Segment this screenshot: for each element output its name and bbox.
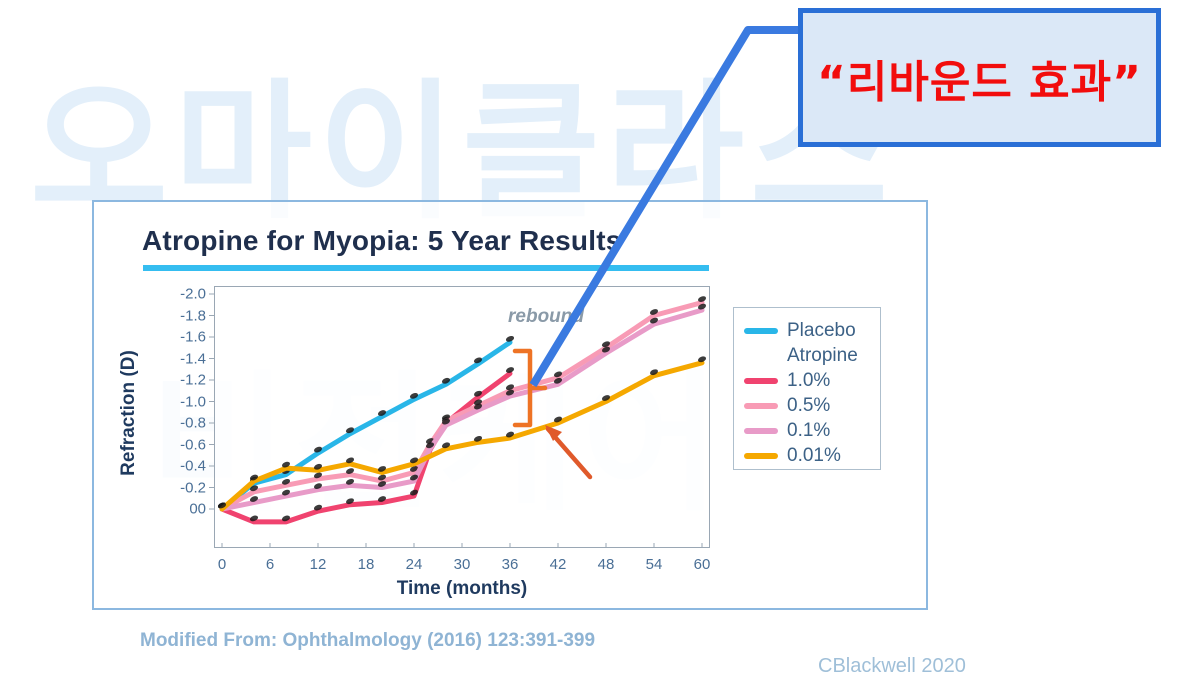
legend-swatch [744,403,778,409]
x-tick-label: 18 [358,556,375,573]
x-tick-label: 24 [406,556,423,573]
x-tick-label: 42 [550,556,567,573]
x-tick-label: 30 [454,556,471,573]
legend-item: 0.01% [744,443,880,468]
rebound-callout-box: “리바운드 효과” [798,8,1161,147]
rebound-annotation-label: rebound [508,306,584,328]
page-title: Atropine for Myopia: 5 Year Results [142,225,622,257]
y-tick-label: -0.6 [180,436,206,453]
legend-label-placebo: Placebo [787,320,856,342]
legend-item: 0.5% [744,393,880,418]
legend-label: 1.0% [787,370,830,392]
slide-canvas: 오마이클라스 비전케어 Atropine for Myopia: 5 Year … [0,0,1181,689]
x-tick-label: 6 [266,556,274,573]
legend-swatch-placebo [744,328,778,334]
y-tick-label: -1.2 [180,372,206,389]
legend-swatch [744,428,778,434]
y-tick-label: -0.2 [180,479,206,496]
legend-item: 0.1% [744,418,880,443]
rebound-callout-text: “리바운드 효과” [817,46,1142,110]
y-tick-label: -0.4 [180,458,206,475]
source-citation: Modified From: Ophthalmology (2016) 123:… [140,630,595,652]
y-tick-label: 00 [189,501,206,518]
chart-legend: Placebo Atropine 1.0%0.5%0.1%0.01% [733,307,881,470]
x-tick-label: 54 [646,556,663,573]
legend-swatch [744,378,778,384]
x-axis-label: Time (months) [214,578,710,600]
x-tick-label: 36 [502,556,519,573]
x-tick-label: 12 [310,556,327,573]
x-tick-label: 0 [218,556,226,573]
y-tick-label: -1.8 [180,307,206,324]
y-tick-label: -1.4 [180,350,206,367]
legend-swatch [744,453,778,459]
legend-item-placebo: Placebo [744,318,880,343]
y-tick-label: -1.0 [180,393,206,410]
legend-label: 0.5% [787,395,830,417]
y-tick-label: -2.0 [180,286,206,303]
legend-item: 1.0% [744,368,880,393]
title-underline [143,265,709,271]
legend-group-atropine: Atropine [787,343,880,368]
y-axis-label: Refraction (D) [118,298,140,528]
legend-label: 0.01% [787,445,841,467]
author-credit: CBlackwell 2020 [818,655,966,678]
y-tick-label: -0.8 [180,415,206,432]
y-axis-ticks: 00-0.2-0.4-0.6-0.8-1.0-1.2-1.4-1.6-1.8-2… [160,0,206,689]
legend-items: 1.0%0.5%0.1%0.01% [744,368,880,468]
x-tick-label: 60 [694,556,711,573]
plot-area [214,286,710,548]
x-tick-label: 48 [598,556,615,573]
y-tick-label: -1.6 [180,329,206,346]
legend-label: 0.1% [787,420,830,442]
